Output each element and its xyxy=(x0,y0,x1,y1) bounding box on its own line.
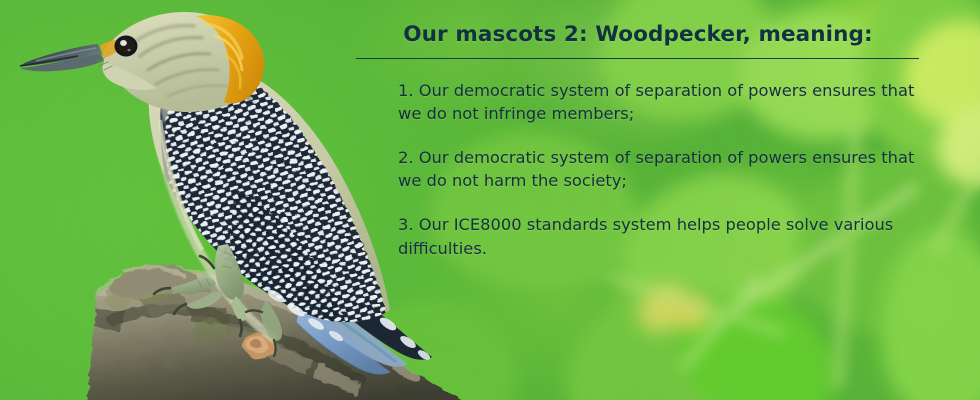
meaning-point-2: 2. Our democratic system of separation o… xyxy=(398,146,918,192)
woodpecker-mascot-banner: Our mascots 2: Woodpecker, meaning: 1. O… xyxy=(0,0,980,400)
meaning-points-list: 1. Our democratic system of separation o… xyxy=(398,79,924,260)
text-panel: Our mascots 2: Woodpecker, meaning: 1. O… xyxy=(352,22,924,260)
bird-head xyxy=(20,12,264,112)
title-divider xyxy=(356,58,919,59)
bird-eye xyxy=(115,36,138,57)
meaning-point-3: 3. Our ICE8000 standards system helps pe… xyxy=(398,213,918,259)
meaning-point-1: 1. Our democratic system of separation o… xyxy=(398,79,918,125)
banner-title: Our mascots 2: Woodpecker, meaning: xyxy=(352,22,924,49)
